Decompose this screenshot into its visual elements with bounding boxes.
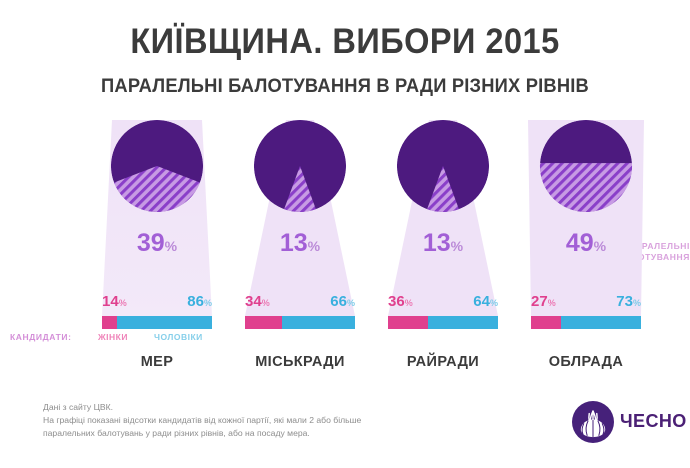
bar-values-rayrady: 36% 64% (388, 293, 498, 313)
parallel-value-number: 13 (423, 229, 451, 257)
female-value-miskrady: 34% (245, 293, 270, 310)
footnote-line-1: Дані з сайту ЦВК. (43, 401, 513, 414)
percent-sign: % (119, 298, 127, 308)
male-value-mer: 86% (187, 293, 212, 310)
percent-sign: % (347, 298, 355, 308)
female-number: 27 (531, 293, 548, 310)
gender-bar-mer (102, 316, 212, 329)
gender-bar-female-segment (531, 316, 561, 329)
pie-chart-rayrady (396, 119, 490, 213)
percent-sign: % (594, 238, 606, 254)
female-value-oblrada: 27% (531, 293, 556, 310)
infographic-canvas: КИЇВЩИНА. ВИБОРИ 2015 ПАРАЛЕЛЬНІ БАЛОТУВ… (0, 0, 690, 468)
footnote-line-2: На графіці показані відсотки кандидатів … (43, 414, 513, 427)
pie-chart-miskrady (253, 119, 347, 213)
chart-column-rayrady: 13% 36% 64% РАЙРАДИ (363, 0, 523, 380)
parallel-value-number: 13 (280, 229, 308, 257)
parallel-value-rayrady: 13% (363, 229, 523, 258)
parallel-value-mer: 39% (77, 229, 237, 258)
gender-bar-miskrady (245, 316, 355, 329)
parallel-value-miskrady: 13% (220, 229, 380, 258)
male-value-rayrady: 64% (473, 293, 498, 310)
category-label-miskrady: МІСЬКРАДИ (220, 354, 380, 370)
male-number: 64 (473, 293, 490, 310)
parallel-value-oblrada: 49% (506, 229, 666, 258)
male-value-oblrada: 73% (616, 293, 641, 310)
male-number: 73 (616, 293, 633, 310)
gender-bar-female-segment (388, 316, 428, 329)
logo-text: ЧЕСНО (620, 411, 687, 432)
bar-values-oblrada: 27% 73% (531, 293, 641, 313)
legend-item-male: ЧОЛОВІКИ (154, 332, 203, 342)
percent-sign: % (490, 298, 498, 308)
axis-label-candidates: КАНДИДАТИ: (10, 332, 72, 342)
parallel-value-number: 39 (137, 229, 165, 257)
male-number: 66 (330, 293, 347, 310)
percent-sign: % (204, 298, 212, 308)
bar-values-mer: 14% 86% (102, 293, 212, 313)
female-number: 14 (102, 293, 119, 310)
female-number: 34 (245, 293, 262, 310)
female-value-rayrady: 36% (388, 293, 413, 310)
gender-bar-female-segment (245, 316, 282, 329)
percent-sign: % (262, 298, 270, 308)
percent-sign: % (405, 298, 413, 308)
percent-sign: % (548, 298, 556, 308)
bar-values-miskrady: 34% 66% (245, 293, 355, 313)
gender-bar-rayrady (388, 316, 498, 329)
female-number: 36 (388, 293, 405, 310)
chart-column-miskrady: 13% 34% 66% МІСЬКРАДИ (220, 0, 380, 380)
chart-column-oblrada: 49% 27% 73% ОБЛРАДА (506, 0, 666, 380)
category-label-oblrada: ОБЛРАДА (506, 354, 666, 370)
pie-chart-mer (110, 119, 204, 213)
percent-sign: % (165, 238, 177, 254)
parallel-value-number: 49 (566, 229, 594, 257)
chesno-logo[interactable]: ЧЕСНО (572, 399, 682, 447)
pie-chart-oblrada (539, 119, 633, 213)
garlic-icon (572, 401, 614, 443)
female-value-mer: 14% (102, 293, 127, 310)
percent-sign: % (633, 298, 641, 308)
footnote: Дані з сайту ЦВК. На графіці показані ві… (43, 401, 513, 439)
gender-bar-oblrada (531, 316, 641, 329)
male-value-miskrady: 66% (330, 293, 355, 310)
gender-bar-female-segment (102, 316, 117, 329)
percent-sign: % (451, 238, 463, 254)
chart-column-mer: 39% 14% 86% МЕР (77, 0, 237, 380)
footnote-line-3: паралельних балотувань у ради різних рів… (43, 427, 513, 440)
category-label-mer: МЕР (77, 354, 237, 370)
legend-item-female: ЖІНКИ (98, 332, 128, 342)
male-number: 86 (187, 293, 204, 310)
percent-sign: % (308, 238, 320, 254)
category-label-rayrady: РАЙРАДИ (363, 354, 523, 370)
